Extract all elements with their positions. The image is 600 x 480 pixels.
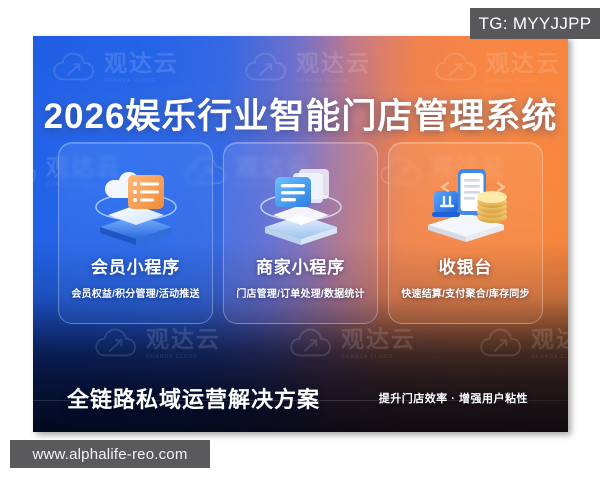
cloud-arrow-icon bbox=[288, 328, 334, 360]
pos-terminal-coins-icon-svg bbox=[414, 157, 518, 245]
watermark-text: 观达云 bbox=[296, 50, 371, 76]
feature-card-title: 商家小程序 bbox=[256, 253, 345, 278]
feature-card-title: 收银台 bbox=[439, 253, 492, 278]
telegram-handle-badge: TG: MYYJJPP bbox=[470, 8, 600, 39]
watermark-subtext: GUANDA CLOUD bbox=[104, 78, 179, 84]
cloud-arrow-icon bbox=[51, 52, 97, 84]
cloud-arrow-icon bbox=[33, 156, 39, 188]
feature-card-merchant-miniprogram[interactable]: 商家小程序 门店管理/订单处理/数据统计 bbox=[223, 142, 378, 324]
watermark-text: 观达云 bbox=[104, 50, 179, 76]
watermark-mark: 观达云 GUANDA CLOUD bbox=[433, 52, 561, 84]
feature-card-member-miniprogram[interactable]: 会员小程序 会员权益/积分管理/活动推送 bbox=[58, 142, 213, 324]
cloud-arrow-icon bbox=[243, 52, 289, 84]
watermark-subtext: GUANDA CLOUD bbox=[146, 354, 221, 360]
cloud-document-icon-svg bbox=[84, 157, 188, 245]
feature-card-title: 会员小程序 bbox=[91, 253, 180, 278]
cloud-document-icon bbox=[84, 157, 188, 245]
watermark-mark: 观达云 GUANDA CLOUD bbox=[93, 328, 221, 360]
watermark-mark: 观达云 GUANDA CLOUD bbox=[243, 52, 371, 84]
screenshot-stage: 观达云 GUANDA CLOUD 观达云 GUANDA CLOUD bbox=[0, 0, 600, 480]
feature-card-subtitle: 门店管理/订单处理/数据统计 bbox=[236, 285, 364, 300]
promo-banner: 观达云 GUANDA CLOUD 观达云 GUANDA CLOUD bbox=[33, 36, 568, 432]
pos-terminal-coins-icon bbox=[414, 157, 518, 245]
stacked-windows-icon bbox=[249, 157, 353, 245]
feature-card-cashier[interactable]: 收银台 快速结算/支付聚合/库存同步 bbox=[388, 142, 543, 324]
website-url-badge: www.alphalife-reo.com bbox=[10, 440, 210, 468]
watermark-text: 观达云 bbox=[531, 326, 568, 352]
watermark-text: 观达云 bbox=[486, 50, 561, 76]
feature-card-subtitle: 快速结算/支付聚合/库存同步 bbox=[401, 285, 529, 300]
watermark-text: 观达云 bbox=[146, 326, 221, 352]
feature-card-subtitle: 会员权益/积分管理/活动推送 bbox=[71, 285, 199, 300]
watermark-subtext: GUANDA CLOUD bbox=[341, 354, 416, 360]
stacked-windows-icon-svg bbox=[249, 157, 353, 245]
watermark-subtext: GUANDA CLOUD bbox=[531, 354, 568, 360]
banner-title: 2026娱乐行业智能门店管理系统 bbox=[33, 88, 568, 139]
cloud-arrow-icon bbox=[93, 328, 139, 360]
watermark-subtext: GUANDA CLOUD bbox=[486, 78, 561, 84]
watermark-mark: 观达云 GUANDA CLOUD bbox=[478, 328, 568, 360]
feature-card-row: 会员小程序 会员权益/积分管理/活动推送 bbox=[58, 142, 543, 324]
footer-headline: 全链路私域运营解决方案 bbox=[67, 382, 320, 414]
cloud-arrow-icon bbox=[478, 328, 524, 360]
watermark-mark: 观达云 GUANDA CLOUD bbox=[51, 52, 179, 84]
footer-tagline: 提升门店效率 · 增强用户粘性 bbox=[379, 390, 528, 406]
banner-footer: 全链路私域运营解决方案 提升门店效率 · 增强用户粘性 bbox=[33, 374, 568, 422]
cloud-arrow-icon bbox=[433, 52, 479, 84]
watermark-text: 观达云 bbox=[341, 326, 416, 352]
watermark-mark: 观达云 GUANDA CLOUD bbox=[288, 328, 416, 360]
watermark-subtext: GUANDA CLOUD bbox=[296, 78, 371, 84]
